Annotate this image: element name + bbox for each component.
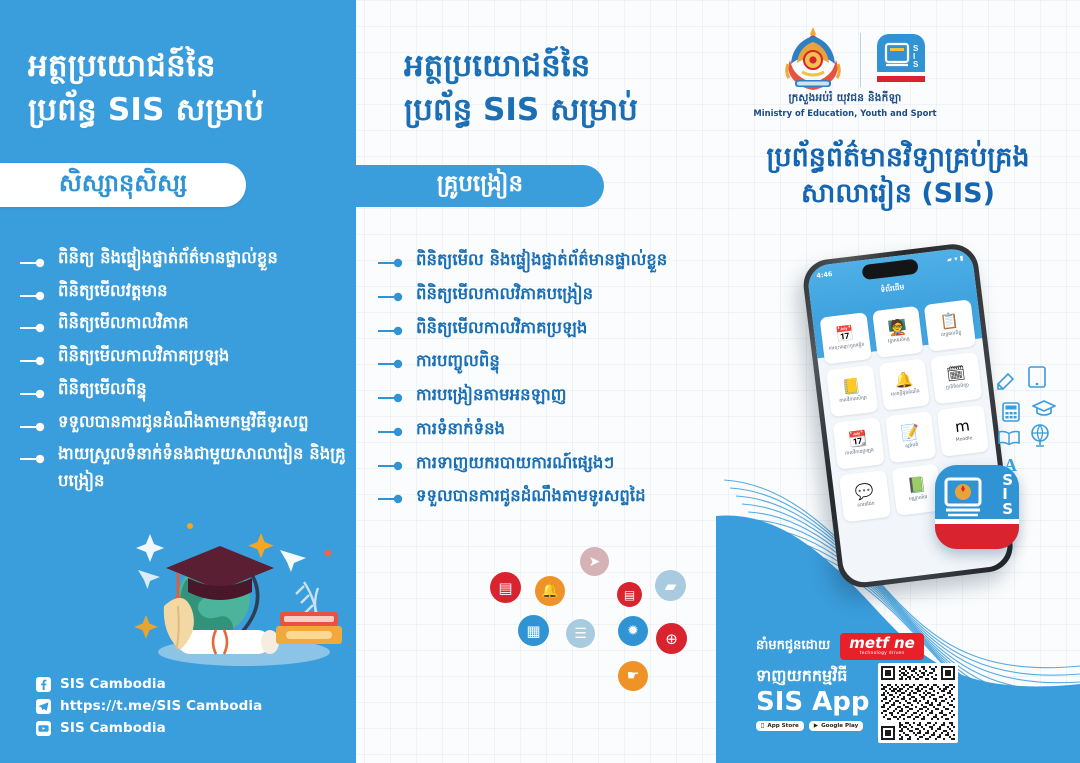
benefit-item: ពិនិត្យមើលកាលវិភាគបង្រៀន: [372, 282, 716, 307]
hand-pointer-icon: ☛: [618, 661, 648, 691]
benefit-item: ពិនិត្យ និងផ្ទៀងផ្ទាត់ព័ត៌មានផ្ទាល់ខ្លួន: [16, 245, 356, 272]
bullet-dash-icon: [20, 291, 46, 301]
app-caption: កាលវិភាគប្រឡង: [845, 448, 874, 457]
teachers-benefit-list: ពិនិត្យមើល និងផ្ទៀងផ្ទាត់ព័ត៌មានផ្ទាល់ខ្…: [372, 248, 716, 518]
sis-badge-letters: SIS: [1002, 473, 1012, 516]
benefit-item: ការបង្រៀនតាមអនឡាញ: [372, 383, 716, 408]
app-caption: ការចុះឈ្មោះចូលរៀន: [829, 342, 865, 352]
moeys-emblem-icon: [782, 24, 844, 96]
benefit-text: ពិនិត្យមើលវត្តមាន: [58, 281, 168, 300]
benefit-item: ពិនិត្យមើលកាលវិភាគប្រឡង: [372, 316, 716, 341]
app-caption: បណ្ណាល័យ: [909, 495, 928, 503]
bullet-dash-icon: [20, 454, 46, 464]
book-icon: ▰: [655, 570, 686, 601]
benefit-text: ពិនិត្យមើលកាលវិភាគ: [58, 313, 189, 332]
bullet-dash-icon: [378, 461, 404, 471]
app-caption: កាលវិភាគសិក្សា: [839, 396, 867, 405]
bullet-dash-icon: [20, 356, 46, 366]
panel-students: អត្ថប្រយោជន៍នៃ ប្រព័ន្ធ SIS សម្រាប់ សិស្…: [0, 0, 356, 763]
register-app[interactable]: 📅ការចុះឈ្មោះចូលរៀន: [820, 312, 872, 364]
tablet-icon: [1028, 366, 1046, 388]
schedule-app[interactable]: 📒កាលវិភាគសិក្សា: [826, 365, 878, 417]
logo-row: S I S: [782, 24, 925, 96]
app-glyph: 📗: [906, 477, 926, 494]
app-store-badge[interactable]:  App Store: [756, 721, 804, 731]
qr-line2: SIS App: [756, 689, 870, 716]
badge-book-icon: [944, 477, 990, 523]
students-audience-label: សិស្សានុសិស្ស: [59, 168, 187, 203]
icon-glyph: ▰: [665, 577, 677, 595]
benefit-item: ងាយស្រួលទំនាក់ទំនងជាមួយសាលារៀន និងគ្រូបង…: [16, 441, 356, 494]
icon-glyph: ▤: [498, 579, 512, 597]
benefit-text: ការបង្រៀនតាមអនឡាញ: [416, 385, 566, 404]
social-label: https://t.me/SIS Cambodia: [60, 698, 262, 714]
metfone-tagline: technology driven: [849, 652, 915, 656]
letter-a-icon: A: [1002, 454, 1020, 474]
benefit-text: ងាយស្រួលទំនាក់ទំនងជាមួយសាលារៀន និងគ្រូបង…: [58, 444, 346, 490]
grad-cap-icon: [1032, 400, 1056, 418]
bullet-dash-icon: [378, 258, 404, 268]
benefit-text: ការទាញយករបាយការណ៍ផ្សេងៗ: [416, 453, 614, 472]
social-label: SIS Cambodia: [60, 720, 166, 736]
qr-code[interactable]: [878, 663, 958, 743]
sis-app-logo-icon: S I S: [877, 34, 925, 86]
bullet-dash-icon: [20, 323, 46, 333]
bell-icon: 🔔: [535, 576, 565, 606]
teachers-title-line2: ប្រព័ន្ធ SIS សម្រាប់: [404, 88, 704, 132]
social-link[interactable]: SIS Cambodia: [36, 676, 262, 692]
qr-block: ទាញយកកម្មវិធី SIS App  App Store ▶ Goog…: [756, 663, 958, 743]
benefit-item: ពិនិត្យមើល និងផ្ទៀងផ្ទាត់ព័ត៌មានផ្ទាល់ខ្…: [372, 248, 716, 273]
benefit-text: ពិនិត្យមើលពិន្ទុ: [58, 379, 147, 398]
icon-glyph: ▤: [624, 588, 635, 602]
list-icon: ☰: [566, 619, 595, 648]
app-glyph: 📝: [900, 424, 920, 441]
ministry-name-kh: ក្រសួងអប់រំ យុវជន និងកីឡា: [750, 92, 940, 107]
social-link[interactable]: https://t.me/SIS Cambodia: [36, 698, 262, 714]
benefit-text: ការទំនាក់ទំនង: [416, 419, 505, 438]
bullet-dash-icon: [20, 389, 46, 399]
metfone-logo: metf ne technology driven: [840, 633, 924, 660]
benefit-item: ពិនិត្យមើលកាលវិភាគ: [16, 310, 356, 337]
product-title-line2: សាលារៀន (SIS): [726, 176, 1070, 212]
teachers-audience-label: គ្រូបង្រៀន: [437, 170, 523, 203]
chat-app[interactable]: 💬សារជជែក: [839, 470, 891, 522]
qr-line1: ទាញយកកម្មវិធី: [756, 665, 870, 689]
logo-divider: [860, 33, 861, 87]
apple-icon: : [761, 723, 764, 729]
app-glyph: 📒: [841, 378, 861, 395]
ministry-name-en: Ministry of Education, Youth and Sport: [750, 108, 940, 118]
app-caption: សេចក្ដីជូនដំណឹង: [891, 389, 920, 398]
survey-app[interactable]: 📝ស្ទង់មតិ: [885, 411, 937, 463]
idea-icon: ✹: [618, 616, 648, 646]
notify-app[interactable]: 🔔សេចក្ដីជូនដំណឹង: [878, 358, 930, 410]
bullet-dash-icon: [378, 427, 404, 437]
benefit-text: ទទួលបានការជូនដំណឹងតាមកម្មវិធីទូរសព្ទ: [58, 412, 309, 431]
globe-icon: ⊕: [656, 623, 687, 654]
teachers-title-line1: អត្ថប្រយោជន៍នៃ: [404, 44, 704, 88]
icon-glyph: ☰: [574, 626, 587, 642]
benefit-item: ពិនិត្យមើលពិន្ទុ: [16, 376, 356, 403]
app-caption: វត្តមានសិស្ស: [888, 337, 910, 345]
benefit-item: ពិនិត្យមើលកាលវិភាគប្រឡង: [16, 343, 356, 370]
app-glyph: 🗓: [946, 365, 967, 382]
benefit-item: ទទួលបានការជូនដំណឹងតាមទូរសព្ទដៃ: [372, 484, 716, 509]
paper-plane-icon: ➤: [580, 547, 609, 576]
icon-glyph: ✹: [627, 623, 639, 639]
social-link[interactable]: SIS Cambodia: [36, 720, 262, 736]
badge-red-band: [935, 524, 1019, 549]
paint-icon: [996, 372, 1016, 390]
benefit-item: ទទួលបានការជូនដំណឹងតាមកម្មវិធីទូរសព្ទ: [16, 409, 356, 436]
app-glyph: 🔔: [894, 372, 914, 389]
app-caption: លទ្ធផលពិន្ទុ: [941, 331, 962, 339]
calendar-app[interactable]: 🗓ប្រតិទិនសិក្សា: [931, 352, 983, 404]
app-glyph: 📅: [835, 326, 855, 343]
google-play-badge[interactable]: ▶ Google Play: [809, 721, 864, 731]
bullet-dash-icon: [378, 393, 404, 403]
benefit-text: ពិនិត្យមើល និងផ្ទៀងផ្ទាត់ព័ត៌មានផ្ទាល់ខ្…: [416, 250, 667, 269]
app-screen-title: ទំព័រដើម: [810, 274, 976, 305]
brochure-poster: អត្ថប្រយោជន៍នៃ ប្រព័ន្ធ SIS សម្រាប់ សិស្…: [0, 0, 1080, 763]
app-caption: ប្រតិទិនសិក្សា: [946, 383, 970, 391]
sis-app-badge: SIS: [935, 465, 1019, 549]
benefit-text: ពិនិត្យមើលកាលវិភាគបង្រៀន: [416, 284, 593, 303]
telegram-icon: [36, 699, 51, 714]
store-badge-row:  App Store ▶ Google Play: [756, 721, 870, 731]
play-icon: ▶: [814, 723, 818, 729]
svg-text:S: S: [913, 60, 919, 69]
bullet-dash-icon: [20, 422, 46, 432]
app-glyph: 📋: [939, 313, 959, 330]
app-caption: Moodle: [956, 436, 973, 443]
book-icon: [998, 430, 1020, 446]
app-glyph: 📆: [848, 431, 868, 448]
app-caption: សារជជែក: [857, 501, 875, 508]
status-time: 4:46: [816, 270, 833, 280]
bullet-dash-icon: [378, 326, 404, 336]
app-glyph: m: [954, 418, 970, 435]
icon-glyph: ➤: [589, 554, 601, 570]
sponsor-label: នាំមកជូនដោយ: [756, 637, 830, 656]
panel-teachers-title: អត្ថប្រយោជន៍នៃ ប្រព័ន្ធ SIS សម្រាប់: [404, 44, 704, 132]
attendance-app[interactable]: 🧑‍🏫វត្តមានសិស្ស: [872, 306, 924, 358]
benefit-text: ពិនិត្យ និងផ្ទៀងផ្ទាត់ព័ត៌មានផ្ទាល់ខ្លួន: [58, 248, 278, 267]
app-caption: ស្ទង់មតិ: [905, 443, 919, 450]
metfone-brand: metf ne: [849, 634, 915, 652]
exam-app[interactable]: 📆កាលវិភាគប្រឡង: [832, 417, 884, 469]
icon-glyph: ⊕: [665, 630, 678, 648]
benefit-item: ពិនិត្យមើលវត្តមាន: [16, 278, 356, 305]
students-benefit-list: ពិនិត្យ និងផ្ទៀងផ្ទាត់ព័ត៌មានផ្ទាល់ខ្លួន…: [16, 245, 356, 501]
benefit-item: ការបញ្ចូលពិន្ទុ: [372, 349, 716, 374]
facebook-icon: [36, 677, 51, 692]
students-social-links: SIS Cambodiahttps://t.me/SIS CambodiaSIS…: [36, 676, 262, 742]
qr-text: ទាញយកកម្មវិធី SIS App  App Store ▶ Goog…: [756, 663, 870, 731]
benefit-text: ពិនិត្យមើលកាលវិភាគប្រឡង: [58, 346, 229, 365]
google-play-label: Google Play: [821, 723, 858, 729]
ministry-caption: ក្រសួងអប់រំ យុវជន និងកីឡា Ministry of Ed…: [750, 92, 940, 118]
moodle-app[interactable]: mMoodle: [937, 405, 989, 457]
icon-glyph: ▦: [526, 622, 540, 640]
social-label: SIS Cambodia: [60, 676, 166, 692]
app-glyph: 💬: [854, 483, 874, 500]
education-illustration: [128, 520, 356, 690]
status-icons: ▰ ▾ ▮: [947, 254, 964, 264]
globe-icon: [1030, 424, 1050, 448]
teachers-audience-pill: គ្រូបង្រៀន: [356, 165, 604, 207]
clipboard-icon: ▤: [490, 572, 521, 603]
score-app[interactable]: 📋លទ្ធផលពិន្ទុ: [924, 299, 976, 351]
panel-students-title: អត្ថប្រយោជន៍នៃ ប្រព័ន្ធ SIS សម្រាប់: [28, 44, 338, 132]
bullet-dash-icon: [378, 494, 404, 504]
benefit-item: ការទំនាក់ទំនង: [372, 417, 716, 442]
product-title: ប្រព័ន្ធព័ត៌មានវិទ្យាគ្រប់គ្រង សាលារៀន (…: [726, 140, 1070, 213]
icon-glyph: 🔔: [541, 583, 558, 599]
benefit-text: ទទួលបានការជូនដំណឹងតាមទូរសព្ទដៃ: [416, 486, 646, 505]
app-store-label: App Store: [767, 723, 798, 729]
icon-glyph: ☛: [627, 668, 640, 684]
students-title-line1: អត្ថប្រយោជន៍នៃ: [28, 44, 338, 88]
students-title-line2: ប្រព័ន្ធ SIS សម្រាប់: [28, 88, 338, 132]
bullet-dash-icon: [378, 359, 404, 369]
calculator-icon: ▦: [518, 615, 549, 646]
benefit-text: ពិនិត្យមើលកាលវិភាគប្រឡង: [416, 318, 587, 337]
document-icon: ▤: [617, 582, 642, 607]
bullet-dash-icon: [20, 258, 46, 268]
benefit-text: ការបញ្ចូលពិន្ទុ: [416, 351, 500, 370]
svg-text:A: A: [1004, 455, 1017, 474]
benefit-item: ការទាញយករបាយការណ៍ផ្សេងៗ: [372, 451, 716, 476]
students-audience-pill: សិស្សានុសិស្ស: [0, 163, 246, 207]
bullet-dash-icon: [378, 292, 404, 302]
product-title-line1: ប្រព័ន្ធព័ត៌មានវិទ្យាគ្រប់គ្រង: [726, 140, 1070, 176]
calculator-icon: [1002, 402, 1020, 422]
app-glyph: 🧑‍🏫: [887, 319, 907, 336]
sponsor-row: នាំមកជូនដោយ metf ne technology driven: [756, 633, 924, 660]
youtube-icon: [36, 721, 51, 736]
